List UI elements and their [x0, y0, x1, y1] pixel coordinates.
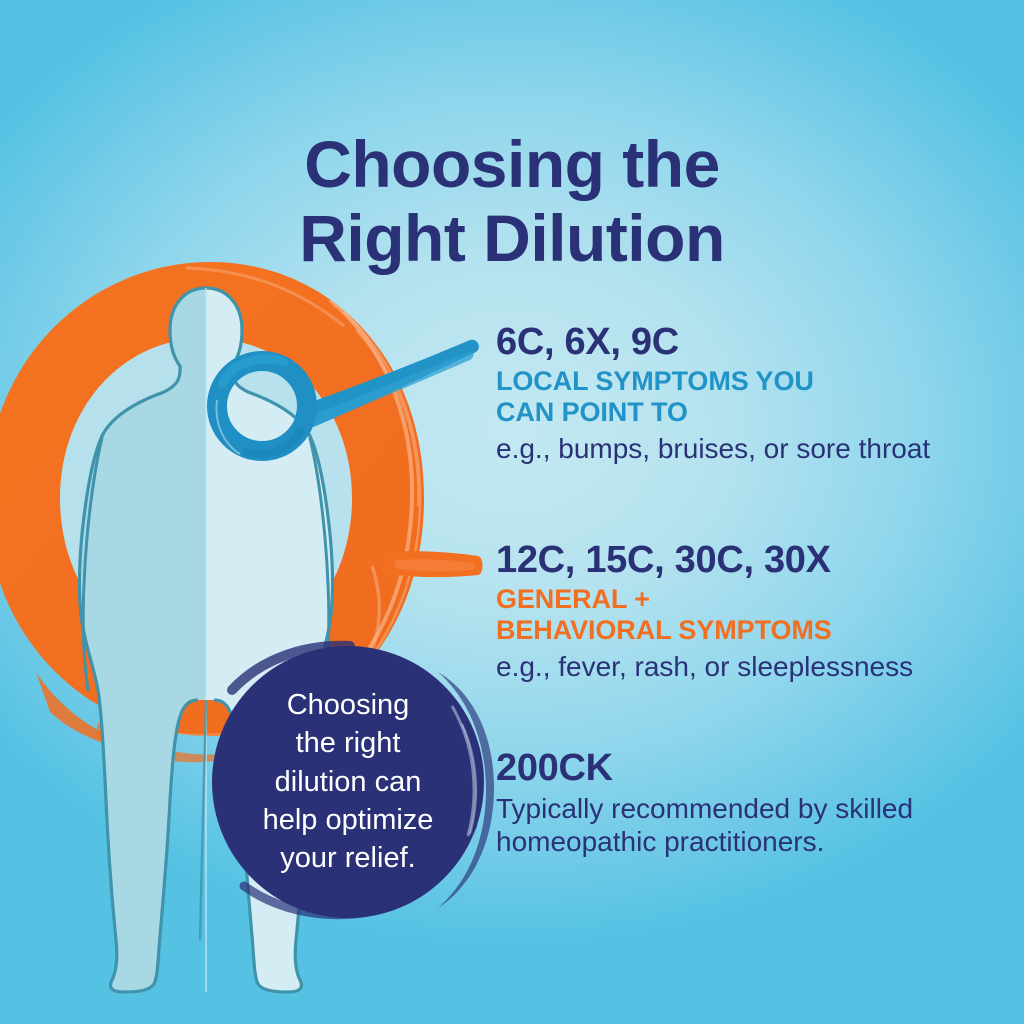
dilution-label-1: 6C, 6X, 9C: [496, 322, 996, 362]
example-line-3b: homeopathic practitioners.: [496, 825, 996, 858]
title-line-2: Right Dilution: [0, 202, 1024, 276]
subhead-line-1b: CAN POINT TO: [496, 397, 996, 427]
example-line-3a: Typically recommended by skilled: [496, 792, 996, 825]
badge-line-1: Choosing: [232, 686, 464, 724]
subhead-line-2a: GENERAL +: [496, 584, 996, 614]
badge-line-5: your relief.: [232, 839, 464, 877]
dilution-example-1: e.g., bumps, bruises, or sore throat: [496, 432, 996, 465]
badge-message: Choosing the right dilution can help opt…: [232, 686, 464, 877]
orange-pointer-stroke: [382, 551, 483, 577]
badge-line-3: dilution can: [232, 763, 464, 801]
dilution-entry-3: 200CK Typically recommended by skilled h…: [496, 748, 996, 858]
dilution-entry-2: 12C, 15C, 30C, 30X GENERAL + BEHAVIORAL …: [496, 540, 996, 683]
dilution-label-2: 12C, 15C, 30C, 30X: [496, 540, 996, 580]
dilution-subhead-2: GENERAL + BEHAVIORAL SYMPTOMS: [496, 584, 996, 644]
dilution-subhead-1: LOCAL SYMPTOMS YOU CAN POINT TO: [496, 366, 996, 426]
page-title: Choosing the Right Dilution: [0, 128, 1024, 276]
dilution-entry-1: 6C, 6X, 9C LOCAL SYMPTOMS YOU CAN POINT …: [496, 322, 996, 465]
dilution-example-3: Typically recommended by skilled homeopa…: [496, 792, 996, 858]
badge-line-4: help optimize: [232, 801, 464, 839]
infographic-poster: Choosing the Right Dilution 6C, 6X, 9C L…: [0, 0, 1024, 1024]
dilution-example-2: e.g., fever, rash, or sleeplessness: [496, 650, 996, 683]
subhead-line-1a: LOCAL SYMPTOMS YOU: [496, 366, 996, 396]
dilution-label-3: 200CK: [496, 748, 996, 788]
badge-line-2: the right: [232, 724, 464, 762]
subhead-line-2b: BEHAVIORAL SYMPTOMS: [496, 615, 996, 645]
title-line-1: Choosing the: [0, 128, 1024, 202]
